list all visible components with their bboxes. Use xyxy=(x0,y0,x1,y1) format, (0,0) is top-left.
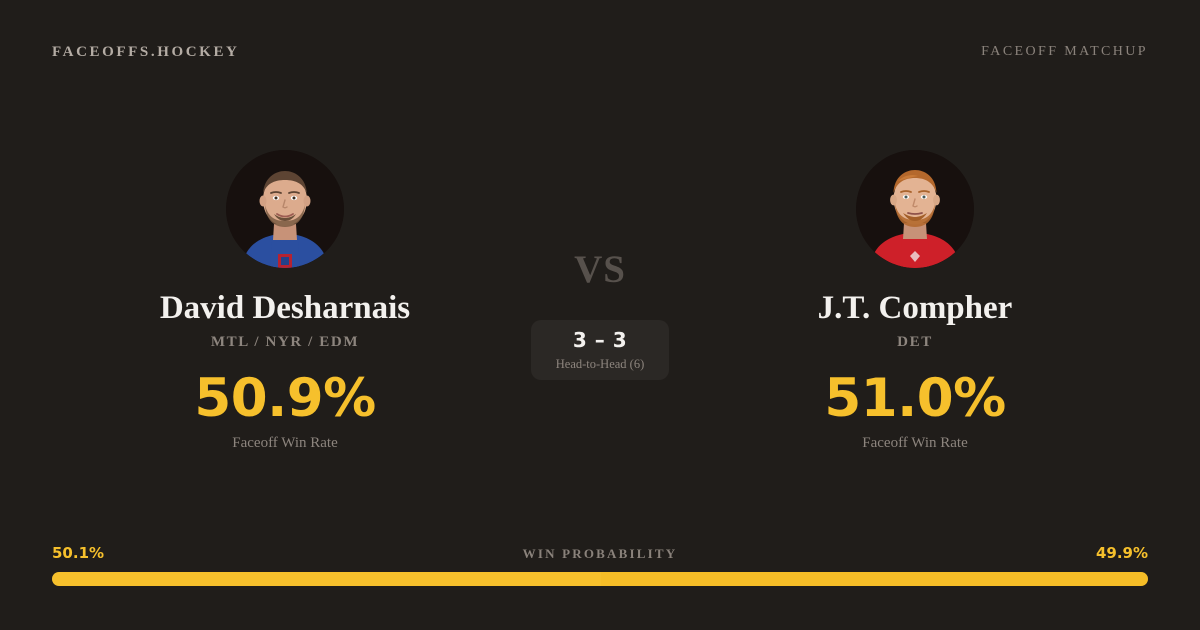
header-tag: FACEOFF MATCHUP xyxy=(981,45,1148,59)
win-probability-left-value: 50.1% xyxy=(52,546,104,561)
win-probability-bar-right-segment xyxy=(601,572,1148,586)
faceoff-win-rate-label: Faceoff Win Rate xyxy=(232,436,337,451)
faceoff-win-rate-value: 51.0% xyxy=(824,372,1005,425)
win-probability-right-value: 49.9% xyxy=(1096,546,1148,561)
win-probability-bar-left-segment xyxy=(52,572,601,586)
avatar xyxy=(856,150,974,268)
matchup-body: David Desharnais MTL / NYR / EDM 50.9% F… xyxy=(0,150,1200,480)
header: FACEOFFS.HOCKEY FACEOFF MATCHUP xyxy=(52,40,1148,64)
avatar xyxy=(226,150,344,268)
player-card-right: J.T. Compher DET 51.0% Faceoff Win Rate xyxy=(700,150,1130,451)
faceoff-win-rate-label: Faceoff Win Rate xyxy=(862,436,967,451)
faceoff-matchup-card: FACEOFFS.HOCKEY FACEOFF MATCHUP xyxy=(0,0,1200,630)
win-probability-section: 50.1% WIN PROBABILITY 49.9% xyxy=(52,546,1148,586)
head-to-head-label: Head-to-Head (6) xyxy=(556,358,645,371)
versus-column: VS 3 – 3 Head-to-Head (6) xyxy=(500,150,700,380)
faceoff-win-rate-value: 50.9% xyxy=(194,372,375,425)
site-brand[interactable]: FACEOFFS.HOCKEY xyxy=(52,45,239,60)
win-probability-header: 50.1% WIN PROBABILITY 49.9% xyxy=(52,546,1148,561)
win-probability-title: WIN PROBABILITY xyxy=(523,547,678,560)
head-to-head-box[interactable]: 3 – 3 Head-to-Head (6) xyxy=(531,320,669,380)
head-to-head-score: 3 – 3 xyxy=(573,330,627,350)
player-name[interactable]: David Desharnais xyxy=(160,290,410,326)
player-teams: DET xyxy=(897,335,933,350)
player-card-left: David Desharnais MTL / NYR / EDM 50.9% F… xyxy=(70,150,500,451)
vs-label: VS xyxy=(574,250,626,289)
player-teams: MTL / NYR / EDM xyxy=(211,335,359,350)
player-name[interactable]: J.T. Compher xyxy=(818,290,1013,326)
win-probability-bar[interactable] xyxy=(52,572,1148,586)
